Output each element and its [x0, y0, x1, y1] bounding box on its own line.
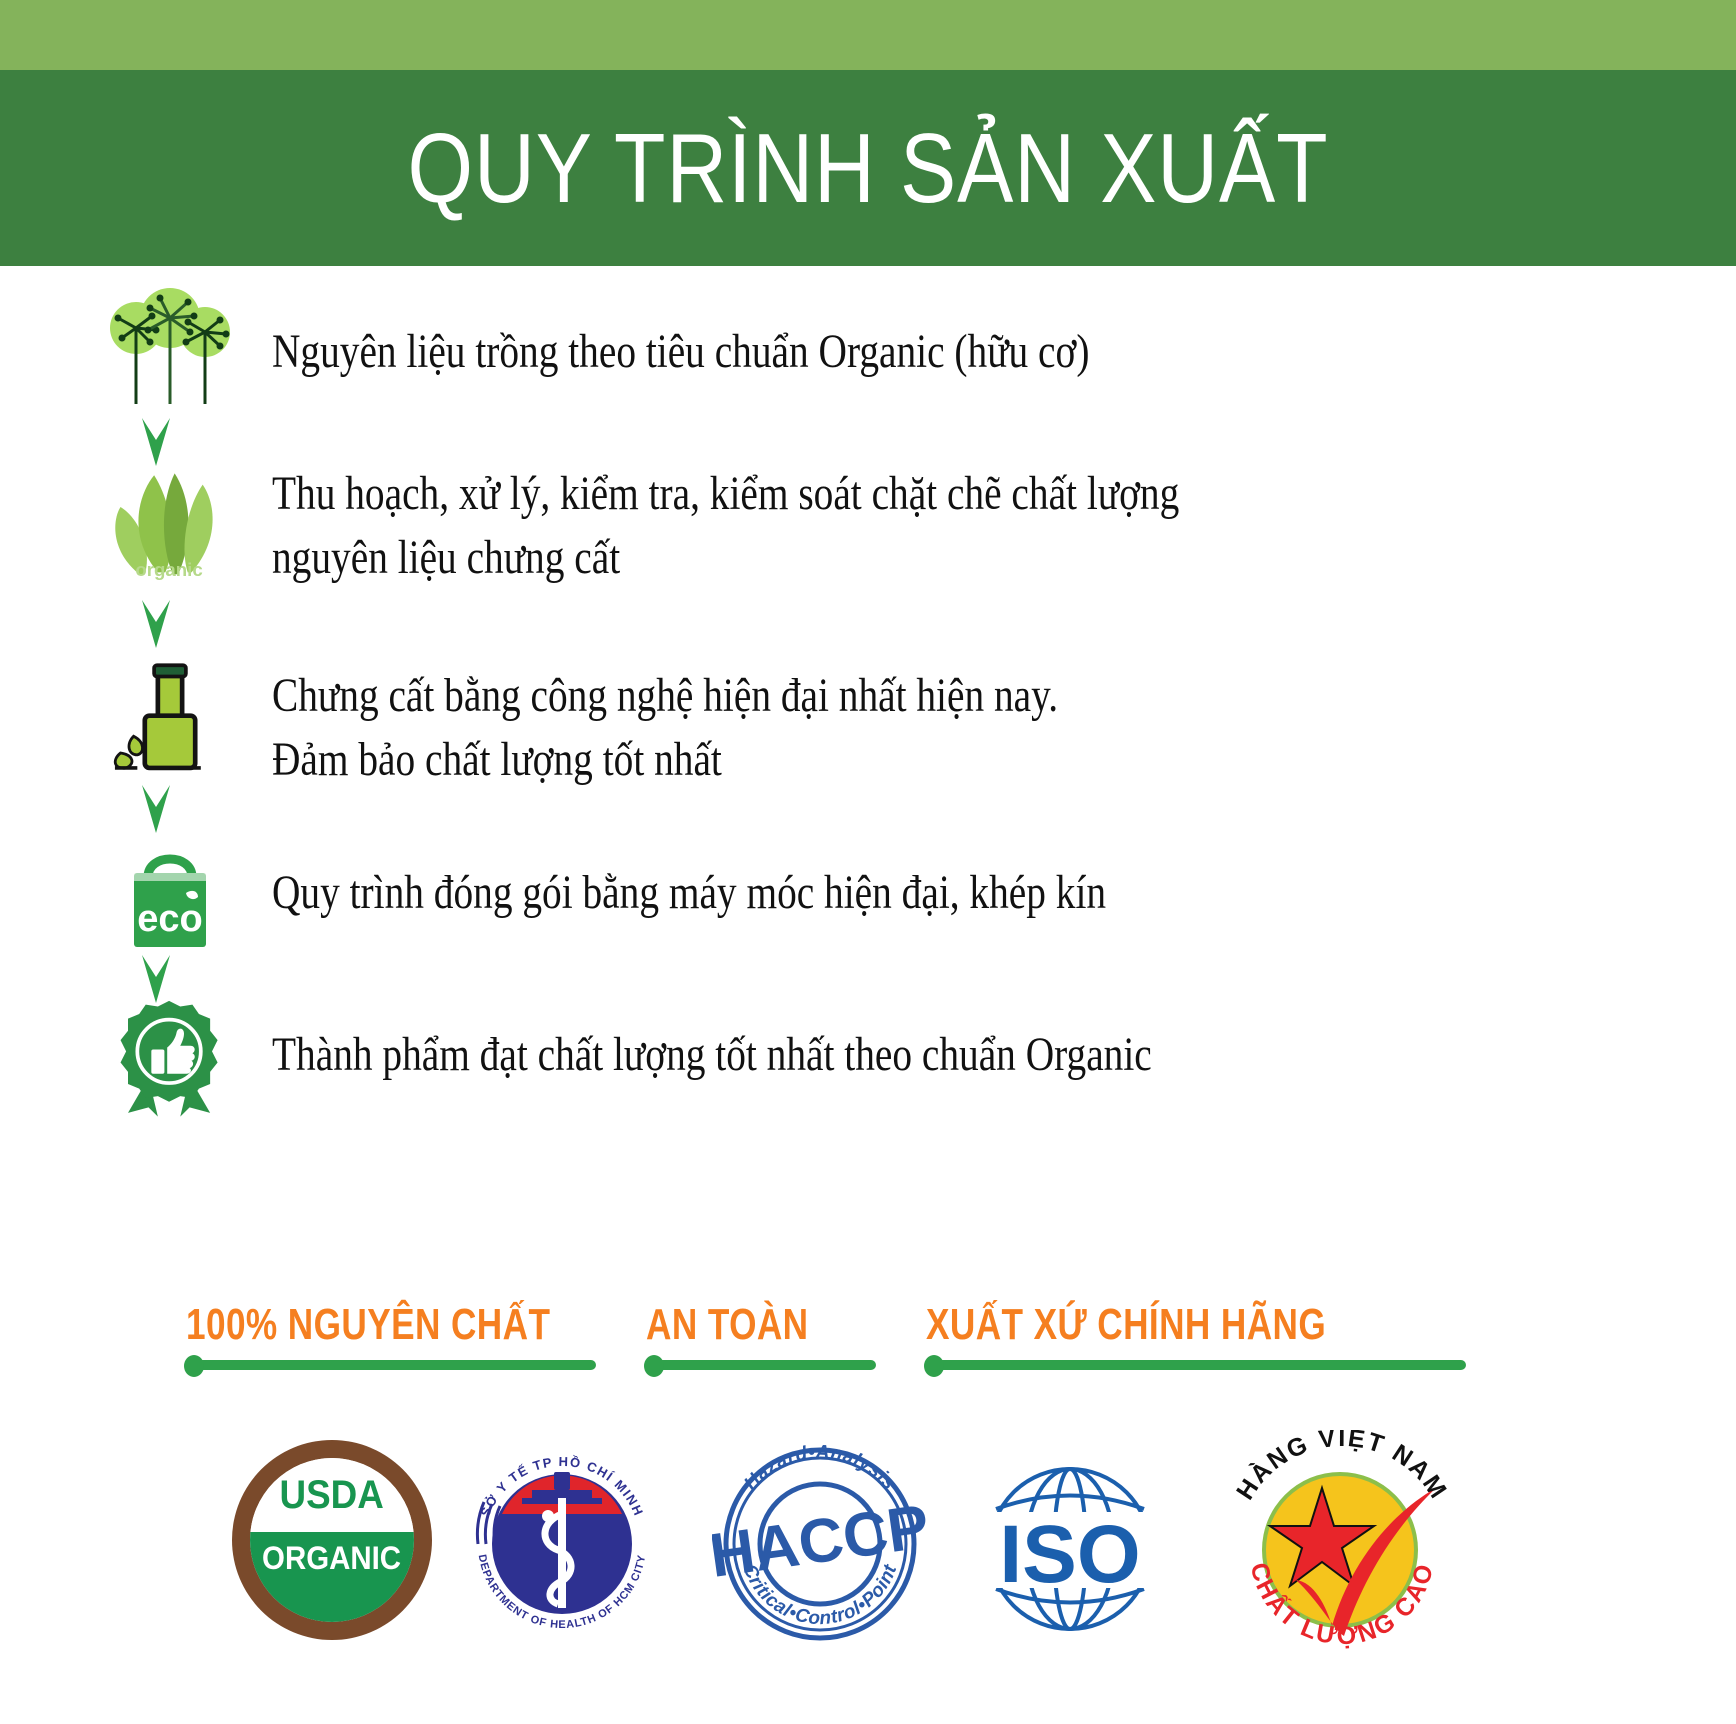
feature-1: 100% NGUYÊN CHẤT	[186, 1300, 606, 1350]
iso-logo: ISO	[960, 1454, 1180, 1644]
organic-icon-label: organic	[135, 559, 202, 580]
oil-bottle-icon	[100, 646, 240, 776]
step-5-text: Thành phẩm đạt chất lượng tốt nhất theo …	[272, 1023, 1666, 1087]
feature-highlights: 100% NGUYÊN CHẤT AN TOÀN XUẤT XỨ CHÍNH H…	[0, 1300, 1736, 1420]
feature-2-label: AN TOÀN	[646, 1300, 838, 1350]
top-light-band	[0, 0, 1736, 70]
organic-leaves-icon: organic	[100, 456, 240, 586]
feature-3-dot	[924, 1355, 944, 1377]
feature-2-rule	[646, 1360, 876, 1370]
feature-1-dot	[184, 1355, 204, 1377]
haccp-logo: Hazard•Analysis Critical•Control•Point H…	[712, 1434, 922, 1644]
step-3-text: Chưng cất bằng công nghệ hiện đại nhất h…	[272, 664, 1666, 792]
eco-bag-icon: eco	[100, 831, 240, 951]
usda-organic-seal: USDA ORGANIC	[232, 1440, 432, 1640]
feature-1-label: 100% NGUYÊN CHẤT	[186, 1300, 522, 1350]
feature-2: AN TOÀN	[646, 1300, 886, 1350]
three-trees-icon	[100, 286, 240, 406]
feature-2-dot	[644, 1355, 664, 1377]
feature-3: XUẤT XỨ CHÍNH HÃNG	[926, 1300, 1476, 1350]
feature-3-label: XUẤT XỨ CHÍNH HÃNG	[926, 1300, 1366, 1350]
step-1-text: Nguyên liệu trồng theo tiêu chuẩn Organi…	[272, 320, 1666, 384]
hcmc-department-of-health-logo: SỞ Y TẾ TP HỒ CHÍ MINH DEPARTMENT OF HEA…	[462, 1436, 662, 1636]
eco-icon-label: eco	[137, 898, 202, 940]
usda-line1: USDA	[280, 1473, 384, 1518]
hang-viet-nam-chat-luong-cao-logo: HÀNG VIỆT NAM CHẤT LƯỢNG CAO	[1222, 1430, 1472, 1660]
iso-center-text: ISO	[999, 1509, 1140, 1600]
page-title: QUY TRÌNH SẢN XUẤT	[122, 70, 1615, 266]
quality-badge-thumbs-up-icon	[100, 991, 240, 1121]
feature-3-rule	[926, 1360, 1466, 1370]
feature-1-rule	[186, 1360, 596, 1370]
usda-line2: ORGANIC	[262, 1540, 401, 1577]
certification-logos: USDA ORGANIC	[0, 1420, 1736, 1680]
infographic-page: QUY TRÌNH SẢN XUẤT	[0, 0, 1736, 1724]
step-2-text: Thu hoạch, xử lý, kiểm tra, kiểm soát ch…	[272, 462, 1666, 590]
step-4-text: Quy trình đóng gói bằng máy móc hiện đại…	[272, 861, 1666, 925]
